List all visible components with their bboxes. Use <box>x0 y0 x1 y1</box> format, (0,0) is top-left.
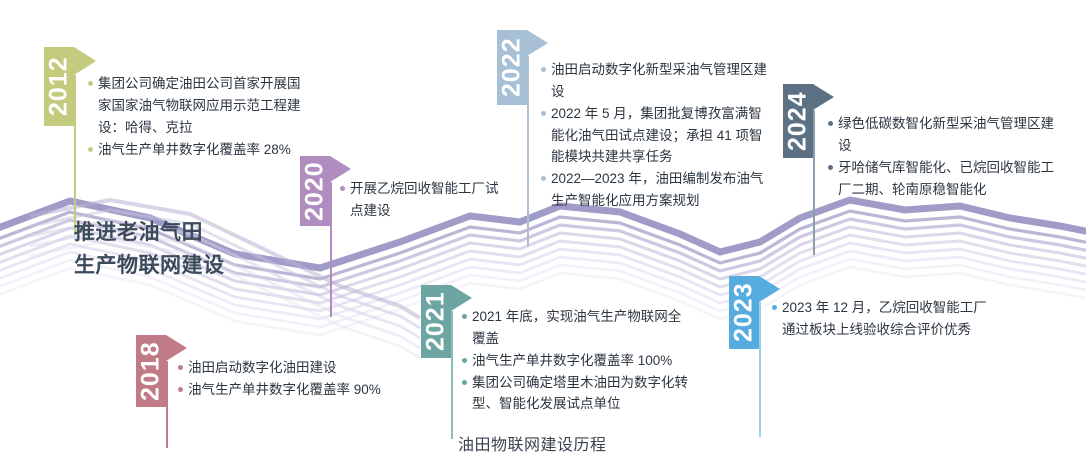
list-item: 集团公司确定油田公司首家开展国家国家油气物联网应用示范工程建设：哈得、克拉 <box>88 73 310 139</box>
bullet-dot <box>772 305 777 310</box>
list-item: 2021 年底，实现油气生产物联网全覆盖 <box>462 306 694 350</box>
flag-year-2024: 2024 <box>783 84 813 158</box>
flag-banner-2024: 2024 <box>783 84 813 158</box>
milestone-flag-2024[interactable]: 2024 <box>783 84 813 158</box>
flag-pole-2024 <box>813 110 815 255</box>
milestone-text-2024: 绿色低碳数智化新型采油气管理区建设 牙哈储气库智能化、已烷回收智能工厂二期、轮南… <box>828 113 1060 200</box>
figure-caption: 油田物联网建设历程 <box>458 431 607 455</box>
bullet-text: 2022—2023 年，油田编制发布油气生产智能化应用方案规划 <box>551 168 773 212</box>
bullet-dot <box>541 176 546 181</box>
list-item: 油气生产单井数字化覆盖率 100% <box>462 350 694 372</box>
page-title-line-1: 推进老油气田 <box>74 217 225 250</box>
bullet-text: 油田启动数字化新型采油气管理区建设 <box>551 59 773 103</box>
page-title-line-2: 生产物联网建设 <box>74 250 225 283</box>
milestone-flag-2012[interactable]: 2012 <box>44 47 74 126</box>
flag-banner-2020: 2020 <box>300 156 330 226</box>
flag-year-2021: 2021 <box>421 285 451 358</box>
bullet-dot <box>88 81 93 86</box>
list-item: 油田启动数字化新型采油气管理区建设 <box>541 59 773 103</box>
flag-year-2023: 2023 <box>729 276 759 349</box>
bullet-text: 2023 年 12 月，乙烷回收智能工厂通过板块上线验收综合评价优秀 <box>782 297 997 341</box>
milestone-text-2022: 油田启动数字化新型采油气管理区建设 2022 年 5 月，集团批复博孜富满智能化… <box>541 59 773 212</box>
bullet-dot <box>178 365 183 370</box>
bullet-dot <box>541 111 546 116</box>
flag-year-2012: 2012 <box>44 47 74 126</box>
list-item: 2022 年 5 月，集团批复博孜富满智能化油气田试点建设；承担 41 项智能模… <box>541 103 773 169</box>
timeline-infographic: 2012 集团公司确定油田公司首家开展国家国家油气物联网应用示范工程建设：哈得、… <box>0 0 1086 475</box>
milestone-flag-2018[interactable]: 2018 <box>136 335 166 407</box>
flag-pole-2012 <box>74 75 76 235</box>
flag-pennant-2024 <box>813 84 834 110</box>
bullet-dot <box>828 165 833 170</box>
milestone-flag-2023[interactable]: 2023 <box>729 276 759 349</box>
flag-pole-2018 <box>166 361 168 448</box>
list-item: 绿色低碳数智化新型采油气管理区建设 <box>828 113 1060 157</box>
milestone-text-2023: 2023 年 12 月，乙烷回收智能工厂通过板块上线验收综合评价优秀 <box>772 297 997 341</box>
bullet-text: 集团公司确定塔里木油田为数字化转型、智能化发展试点单位 <box>472 372 694 416</box>
bullet-dot <box>828 121 833 126</box>
list-item: 油气生产单井数字化覆盖率 28% <box>88 139 310 161</box>
flag-year-2018: 2018 <box>136 335 166 407</box>
flag-pole-2020 <box>330 182 332 317</box>
milestone-text-2018: 油田启动数字化油田建设 油气生产单井数字化覆盖率 90% <box>178 357 418 401</box>
flag-banner-2012: 2012 <box>44 47 74 126</box>
flag-banner-2018: 2018 <box>136 335 166 407</box>
flag-banner-2022: 2022 <box>497 30 527 105</box>
bullet-text: 油气生产单井数字化覆盖率 28% <box>98 139 310 161</box>
flag-year-2020: 2020 <box>300 156 330 226</box>
flag-pole-2021 <box>451 311 453 439</box>
list-item: 2022—2023 年，油田编制发布油气生产智能化应用方案规划 <box>541 168 773 212</box>
flag-banner-2023: 2023 <box>729 276 759 349</box>
bullet-text: 2021 年底，实现油气生产物联网全覆盖 <box>472 306 694 350</box>
milestone-text-2012: 集团公司确定油田公司首家开展国家国家油气物联网应用示范工程建设：哈得、克拉 油气… <box>88 73 310 160</box>
list-item: 2023 年 12 月，乙烷回收智能工厂通过板块上线验收综合评价优秀 <box>772 297 997 341</box>
bullet-text: 集团公司确定油田公司首家开展国家国家油气物联网应用示范工程建设：哈得、克拉 <box>98 73 310 139</box>
bullet-text: 油气生产单井数字化覆盖率 100% <box>472 350 694 372</box>
list-item: 油田启动数字化油田建设 <box>178 357 418 379</box>
bullet-dot <box>462 358 467 363</box>
milestone-flag-2022[interactable]: 2022 <box>497 30 527 105</box>
bullet-text: 油田启动数字化油田建设 <box>188 357 418 379</box>
bullet-dot <box>178 387 183 392</box>
milestone-text-2020: 开展乙烷回收智能工厂试点建设 <box>340 178 510 222</box>
list-item: 集团公司确定塔里木油田为数字化转型、智能化发展试点单位 <box>462 372 694 416</box>
bullet-dot <box>462 380 467 385</box>
flag-banner-2021: 2021 <box>421 285 451 358</box>
milestone-flag-2020[interactable]: 2020 <box>300 156 330 226</box>
bullet-dot <box>340 186 345 191</box>
bullet-dot <box>541 67 546 72</box>
bullet-text: 开展乙烷回收智能工厂试点建设 <box>350 178 510 222</box>
milestone-flag-2021[interactable]: 2021 <box>421 285 451 358</box>
list-item: 油气生产单井数字化覆盖率 90% <box>178 379 418 401</box>
bullet-text: 2022 年 5 月，集团批复博孜富满智能化油气田试点建设；承担 41 项智能模… <box>551 103 773 169</box>
page-title: 推进老油气田 生产物联网建设 <box>74 217 225 282</box>
flag-pole-2023 <box>759 302 761 437</box>
bullet-text: 绿色低碳数智化新型采油气管理区建设 <box>838 113 1060 157</box>
bullet-dot <box>462 314 467 319</box>
bullet-text: 油气生产单井数字化覆盖率 90% <box>188 379 418 401</box>
flag-year-2022: 2022 <box>497 30 527 105</box>
bullet-text: 牙哈储气库智能化、已烷回收智能工厂二期、轮南原稳智能化 <box>838 157 1060 201</box>
milestone-text-2021: 2021 年底，实现油气生产物联网全覆盖 油气生产单井数字化覆盖率 100% 集… <box>462 306 694 415</box>
flag-pennant-2012 <box>74 47 96 75</box>
flag-pennant-2022 <box>527 30 548 56</box>
list-item: 开展乙烷回收智能工厂试点建设 <box>340 178 510 222</box>
list-item: 牙哈储气库智能化、已烷回收智能工厂二期、轮南原稳智能化 <box>828 157 1060 201</box>
flag-pole-2022 <box>527 56 529 246</box>
bullet-dot <box>88 147 93 152</box>
